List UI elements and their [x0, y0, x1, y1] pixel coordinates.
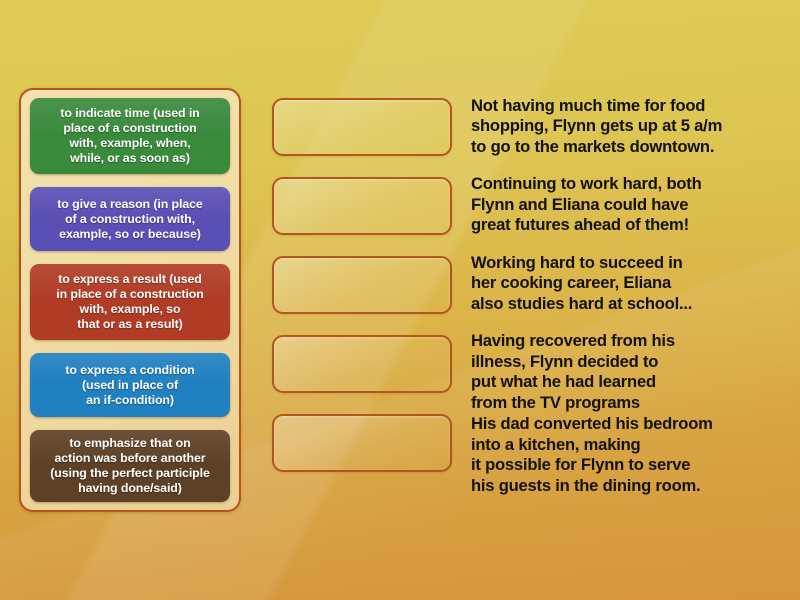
dropzone-column — [272, 98, 452, 472]
activity-canvas: to indicate time (used in place of a con… — [0, 0, 800, 600]
prompt-item: Working hard to succeed in her cooking c… — [471, 253, 787, 314]
tile-emphasize-order[interactable]: to emphasize that on action was before a… — [30, 430, 230, 502]
prompt-item: His dad converted his bedroom into a kit… — [471, 414, 787, 496]
prompt-item: Having recovered from his illness, Flynn… — [471, 331, 787, 413]
dropzone-4[interactable] — [272, 335, 452, 393]
dropzone-3[interactable] — [272, 256, 452, 314]
dropzone-2[interactable] — [272, 177, 452, 235]
prompt-item: Continuing to work hard, both Flynn and … — [471, 174, 787, 235]
dropzone-5[interactable] — [272, 414, 452, 472]
tile-give-a-reason[interactable]: to give a reason (in place of a construc… — [30, 187, 230, 251]
prompt-item: Not having much time for food shopping, … — [471, 96, 787, 157]
tile-tray: to indicate time (used in place of a con… — [19, 88, 241, 512]
tile-express-a-condition[interactable]: to express a condition (used in place of… — [30, 353, 230, 417]
prompt-column: Not having much time for food shopping, … — [471, 96, 787, 496]
tile-indicate-time[interactable]: to indicate time (used in place of a con… — [30, 98, 230, 174]
tile-express-a-result[interactable]: to express a result (used in place of a … — [30, 264, 230, 340]
dropzone-1[interactable] — [272, 98, 452, 156]
